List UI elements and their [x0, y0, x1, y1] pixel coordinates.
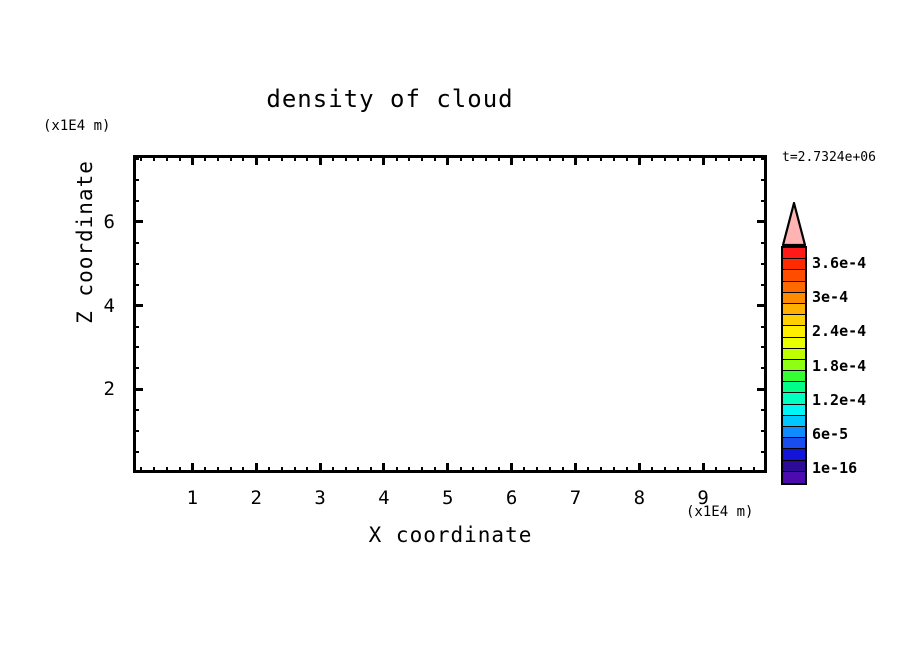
colorbar-label: 6e-5	[812, 425, 848, 443]
x-minor-tick	[626, 467, 628, 473]
x-minor-tick	[306, 155, 308, 161]
x-major-tick	[574, 463, 577, 473]
colorbar-band	[783, 338, 805, 349]
x-minor-tick	[370, 467, 372, 473]
plot-frame	[133, 155, 767, 473]
x-minor-tick	[242, 155, 244, 161]
x-axis-title: X coordinate	[233, 523, 668, 547]
y-minor-tick	[761, 326, 767, 328]
y-minor-tick	[133, 242, 139, 244]
colorbar-overflow-arrow-icon	[781, 202, 807, 246]
x-minor-tick	[460, 467, 462, 473]
x-minor-tick	[370, 155, 372, 161]
x-minor-tick	[549, 155, 551, 161]
colorbar-band	[783, 427, 805, 438]
x-minor-tick	[536, 467, 538, 473]
x-major-tick	[702, 155, 705, 165]
x-minor-tick	[281, 467, 283, 473]
x-minor-tick	[677, 467, 679, 473]
colorbar-band	[783, 326, 805, 337]
x-minor-tick	[562, 467, 564, 473]
y-minor-tick	[761, 200, 767, 202]
x-minor-tick	[664, 467, 666, 473]
timestamp-label: t=2.7324e+06	[782, 150, 876, 165]
x-minor-tick	[740, 467, 742, 473]
y-axis-unit-label: (x1E4 m)	[43, 118, 110, 134]
x-minor-tick	[332, 155, 334, 161]
x-minor-tick	[153, 467, 155, 473]
x-minor-tick	[587, 467, 589, 473]
x-tick-label: 2	[250, 487, 261, 509]
x-minor-tick	[268, 155, 270, 161]
x-minor-tick	[715, 155, 717, 161]
colorbar-band	[783, 282, 805, 293]
x-minor-tick	[268, 467, 270, 473]
x-minor-tick	[242, 467, 244, 473]
x-minor-tick	[408, 467, 410, 473]
x-minor-tick	[179, 155, 181, 161]
x-major-tick	[255, 155, 258, 165]
y-minor-tick	[761, 346, 767, 348]
x-minor-tick	[498, 155, 500, 161]
colorbar-band	[783, 393, 805, 404]
x-minor-tick	[715, 467, 717, 473]
y-minor-tick	[133, 284, 139, 286]
x-minor-tick	[728, 155, 730, 161]
x-minor-tick	[306, 467, 308, 473]
y-major-tick	[757, 304, 767, 307]
x-minor-tick	[613, 467, 615, 473]
x-minor-tick	[728, 467, 730, 473]
colorbar-label: 3.6e-4	[812, 254, 866, 272]
x-tick-label: 6	[506, 487, 517, 509]
x-minor-tick	[179, 467, 181, 473]
x-minor-tick	[294, 467, 296, 473]
plot-area: 123456789 642	[133, 155, 767, 473]
colorbar-label: 3e-4	[812, 288, 848, 306]
y-minor-tick	[133, 158, 139, 160]
x-minor-tick	[396, 467, 398, 473]
y-minor-tick	[133, 326, 139, 328]
x-minor-tick	[421, 467, 423, 473]
x-minor-tick	[587, 155, 589, 161]
x-minor-tick	[140, 467, 142, 473]
x-major-tick	[702, 463, 705, 473]
y-minor-tick	[761, 430, 767, 432]
y-minor-tick	[133, 451, 139, 453]
colorbar-band	[783, 416, 805, 427]
x-minor-tick	[357, 467, 359, 473]
y-major-tick	[133, 304, 143, 307]
x-minor-tick	[523, 155, 525, 161]
x-tick-label: 3	[314, 487, 325, 509]
x-minor-tick	[689, 467, 691, 473]
x-major-tick	[382, 155, 385, 165]
colorbar-band	[783, 360, 805, 371]
y-minor-tick	[761, 284, 767, 286]
y-minor-tick	[761, 409, 767, 411]
colorbar	[781, 202, 807, 485]
x-minor-tick	[600, 467, 602, 473]
y-minor-tick	[761, 158, 767, 160]
y-minor-tick	[761, 367, 767, 369]
x-minor-tick	[421, 155, 423, 161]
x-minor-tick	[217, 155, 219, 161]
x-minor-tick	[626, 155, 628, 161]
colorbar-label: 2.4e-4	[812, 322, 866, 340]
colorbar-label: 1.8e-4	[812, 357, 866, 375]
y-minor-tick	[761, 451, 767, 453]
x-tick-label: 4	[378, 487, 389, 509]
colorbar-band	[783, 472, 805, 483]
x-minor-tick	[549, 467, 551, 473]
x-minor-tick	[434, 467, 436, 473]
x-minor-tick	[345, 467, 347, 473]
y-minor-tick	[133, 409, 139, 411]
y-minor-tick	[761, 242, 767, 244]
colorbar-label: 1.2e-4	[812, 391, 866, 409]
x-minor-tick	[472, 155, 474, 161]
x-minor-tick	[153, 155, 155, 161]
colorbar-band	[783, 270, 805, 281]
y-minor-tick	[133, 179, 139, 181]
x-minor-tick	[485, 467, 487, 473]
y-minor-tick	[761, 179, 767, 181]
x-tick-label: 9	[697, 487, 708, 509]
x-major-tick	[191, 155, 194, 165]
y-minor-tick	[133, 346, 139, 348]
y-minor-tick	[133, 430, 139, 432]
x-minor-tick	[651, 155, 653, 161]
x-minor-tick	[498, 467, 500, 473]
x-major-tick	[510, 463, 513, 473]
x-major-tick	[446, 155, 449, 165]
x-major-tick	[319, 463, 322, 473]
x-minor-tick	[523, 467, 525, 473]
x-minor-tick	[204, 467, 206, 473]
colorbar-band	[783, 382, 805, 393]
x-minor-tick	[600, 155, 602, 161]
x-minor-tick	[204, 155, 206, 161]
x-axis-unit-label: (x1E4 m)	[686, 504, 753, 520]
x-minor-tick	[345, 155, 347, 161]
x-minor-tick	[166, 467, 168, 473]
colorbar-band	[783, 293, 805, 304]
x-minor-tick	[166, 155, 168, 161]
x-minor-tick	[753, 155, 755, 161]
x-minor-tick	[230, 155, 232, 161]
x-tick-label: 7	[570, 487, 581, 509]
x-minor-tick	[230, 467, 232, 473]
x-minor-tick	[536, 155, 538, 161]
x-major-tick	[382, 463, 385, 473]
colorbar-band	[783, 405, 805, 416]
y-minor-tick	[133, 367, 139, 369]
colorbar-band	[783, 349, 805, 360]
x-minor-tick	[664, 155, 666, 161]
x-minor-tick	[651, 467, 653, 473]
x-tick-label: 8	[634, 487, 645, 509]
colorbar-band	[783, 259, 805, 270]
y-major-tick	[757, 220, 767, 223]
x-minor-tick	[460, 155, 462, 161]
y-major-tick	[757, 388, 767, 391]
figure-canvas: density of cloud (x1E4 m) (x1E4 m) t=2.7…	[0, 0, 904, 654]
colorbar-band	[783, 371, 805, 382]
colorbar-band	[783, 315, 805, 326]
x-tick-label: 5	[442, 487, 453, 509]
x-minor-tick	[294, 155, 296, 161]
y-minor-tick	[133, 263, 139, 265]
y-axis-title: Z coordinate	[73, 152, 97, 332]
x-major-tick	[574, 155, 577, 165]
x-minor-tick	[689, 155, 691, 161]
x-major-tick	[638, 463, 641, 473]
y-minor-tick	[761, 263, 767, 265]
y-tick-label: 4	[104, 295, 115, 317]
x-major-tick	[638, 155, 641, 165]
y-tick-label: 2	[104, 378, 115, 400]
colorbar-label: 1e-16	[812, 459, 857, 477]
x-minor-tick	[472, 467, 474, 473]
x-major-tick	[510, 155, 513, 165]
y-minor-tick	[133, 200, 139, 202]
x-major-tick	[255, 463, 258, 473]
colorbar-band	[783, 438, 805, 449]
x-major-tick	[446, 463, 449, 473]
x-minor-tick	[677, 155, 679, 161]
y-tick-label: 6	[104, 211, 115, 233]
x-major-tick	[191, 463, 194, 473]
x-minor-tick	[396, 155, 398, 161]
x-minor-tick	[740, 155, 742, 161]
x-minor-tick	[140, 155, 142, 161]
x-minor-tick	[434, 155, 436, 161]
x-minor-tick	[613, 155, 615, 161]
colorbar-bands	[781, 246, 807, 485]
x-minor-tick	[562, 155, 564, 161]
x-minor-tick	[485, 155, 487, 161]
x-tick-label: 1	[187, 487, 198, 509]
y-major-tick	[133, 220, 143, 223]
chart-title: density of cloud	[0, 85, 780, 113]
x-major-tick	[319, 155, 322, 165]
x-minor-tick	[332, 467, 334, 473]
y-major-tick	[133, 388, 143, 391]
x-minor-tick	[281, 155, 283, 161]
x-minor-tick	[753, 467, 755, 473]
colorbar-band	[783, 248, 805, 259]
colorbar-band	[783, 461, 805, 472]
x-minor-tick	[408, 155, 410, 161]
colorbar-band	[783, 449, 805, 460]
x-minor-tick	[217, 467, 219, 473]
colorbar-tick-labels: 3.6e-43e-42.4e-41.8e-41.2e-46e-51e-16	[812, 202, 904, 485]
colorbar-band	[783, 304, 805, 315]
x-minor-tick	[357, 155, 359, 161]
